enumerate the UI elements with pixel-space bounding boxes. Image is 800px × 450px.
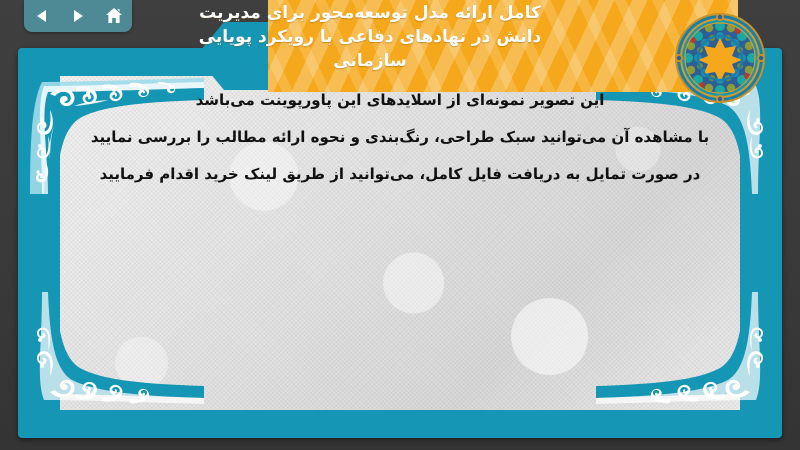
navigation-bar[interactable]: [24, 0, 132, 32]
prev-button[interactable]: [29, 4, 55, 28]
next-triangle-icon: [70, 8, 86, 24]
next-button[interactable]: [65, 4, 91, 28]
slide-body-text: این تصویر نمونه‌ای از اسلایدهای این پاور…: [60, 82, 740, 192]
home-icon: [105, 7, 123, 25]
prev-triangle-icon: [34, 8, 50, 24]
home-button[interactable]: [101, 4, 127, 28]
persian-medallion-icon: [672, 10, 768, 106]
title-line-3: سازمانی: [0, 49, 740, 73]
body-line-2: با مشاهده آن می‌توانید سبک طراحی، رنگ‌بن…: [60, 119, 740, 156]
slide-canvas: این تصویر نمونه‌ای از اسلایدهای این پاور…: [0, 0, 800, 450]
body-line-3: در صورت تمایل به دریافت فایل کامل، می‌تو…: [60, 156, 740, 193]
